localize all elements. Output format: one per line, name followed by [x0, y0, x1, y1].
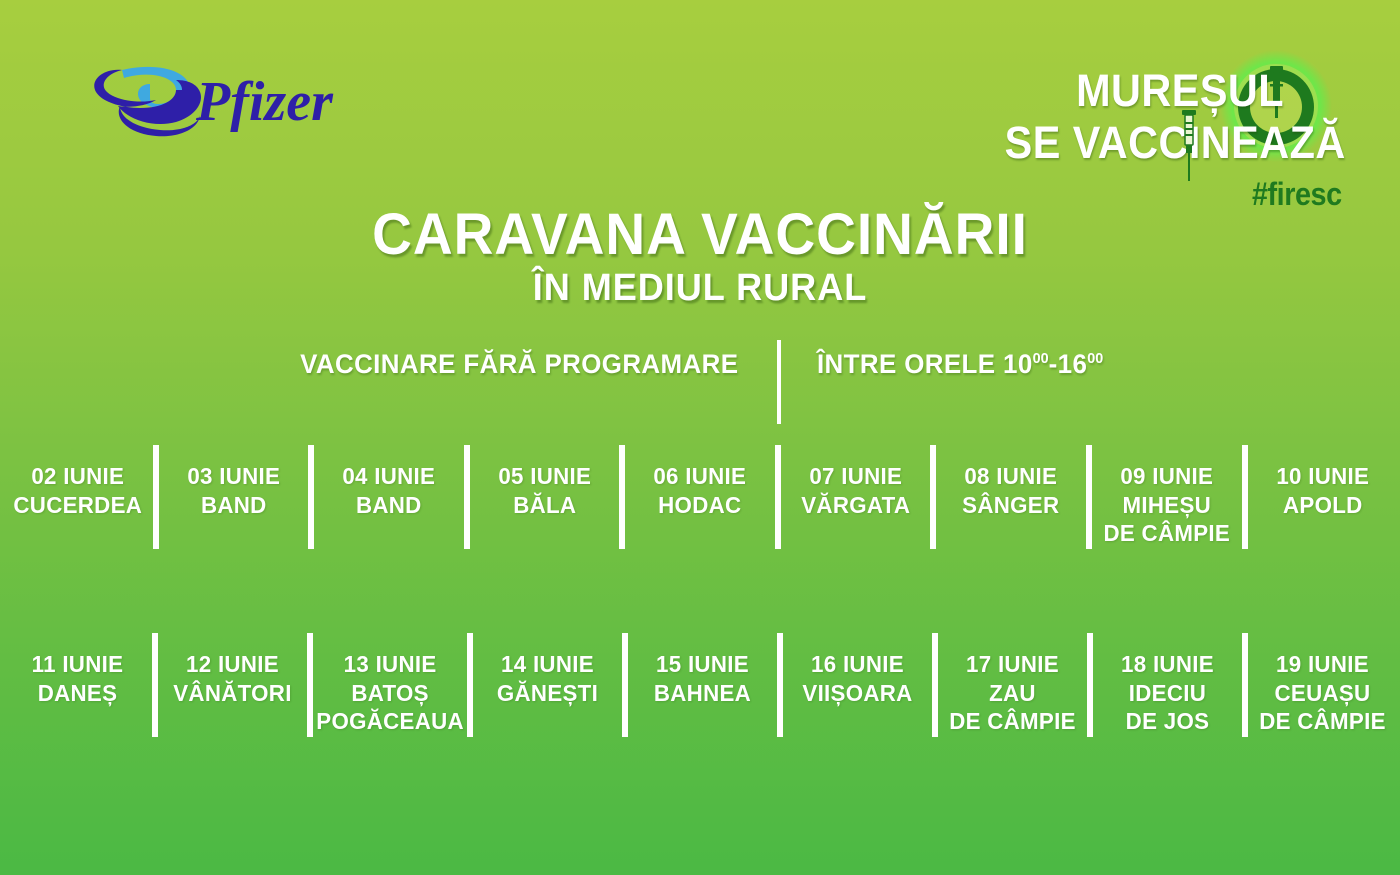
card-place: DANEȘ [6, 679, 149, 708]
page-subtitle: ÎN MEDIUL RURAL [35, 268, 1365, 310]
schedule-card: 07 IUNIEVĂRGATA [778, 440, 934, 555]
card-date: 03 IUNIE [162, 462, 305, 491]
card-separator [1242, 633, 1248, 737]
schedule-card: 08 IUNIESÂNGER [933, 440, 1089, 555]
schedule-card: 11 IUNIEDANEȘ [0, 628, 155, 743]
card-separator [464, 445, 470, 549]
info-row: VACCINARE FĂRĂ PROGRAMARE ÎNTRE ORELE 10… [0, 322, 1400, 406]
schedule-card: 02 IUNIECUCERDEA [0, 440, 156, 555]
card-date: 14 IUNIE [476, 650, 619, 679]
card-place: VĂRGATA [784, 491, 927, 520]
card-date: 12 IUNIE [161, 650, 304, 679]
card-place: CUCERDEA [6, 491, 149, 520]
card-date: 02 IUNIE [6, 462, 149, 491]
title-block: CARAVANA VACCINĂRII ÎN MEDIUL RURAL [0, 205, 1400, 310]
card-place-line: ZAU [941, 679, 1084, 708]
schedule-card: 19 IUNIECEUAȘUDE CÂMPIE [1245, 628, 1400, 743]
card-place-line: CUCERDEA [6, 491, 149, 520]
page-title: CARAVANA VACCINĂRII [35, 205, 1365, 264]
pfizer-logo: Pfizer [84, 58, 354, 143]
info-no-appointment: VACCINARE FĂRĂ PROGRAMARE [300, 349, 738, 380]
schedule-card: 16 IUNIEVIIȘOARA [780, 628, 935, 743]
card-place-line: BATOȘ [316, 679, 464, 708]
schedule-row-2: 11 IUNIEDANEȘ12 IUNIEVÂNĂTORI13 IUNIEBAT… [0, 628, 1400, 743]
schedule-card: 14 IUNIEGĂNEȘTI [470, 628, 625, 743]
card-place-line: POGĂCEAUA [316, 707, 464, 736]
card-date: 08 IUNIE [940, 462, 1083, 491]
campaign-line-2: SE VACCINEAZĂ [1005, 120, 1346, 165]
card-place: CEUAȘUDE CÂMPIE [1251, 679, 1394, 736]
schedule-card: 18 IUNIEIDECIUDE JOS [1090, 628, 1245, 743]
schedule-card: 06 IUNIEHODAC [622, 440, 778, 555]
schedule-card: 05 IUNIEBĂLA [467, 440, 623, 555]
card-place-line: BAND [317, 491, 460, 520]
card-place: ZAUDE CÂMPIE [941, 679, 1084, 736]
campaign-logo: MUREȘUL SE VACCINEAZĂ #firesc [962, 24, 1352, 204]
schedule-card: 17 IUNIEZAUDE CÂMPIE [935, 628, 1090, 743]
card-place-line: SÂNGER [940, 491, 1083, 520]
schedule-card: 12 IUNIEVÂNĂTORI [155, 628, 310, 743]
card-separator [1242, 445, 1248, 549]
pfizer-logo-icon: Pfizer [84, 58, 354, 143]
campaign-line-1: MUREȘUL [1076, 68, 1284, 113]
card-date: 07 IUNIE [784, 462, 927, 491]
card-date: 19 IUNIE [1251, 650, 1394, 679]
info-hours-sup-1: 00 [1033, 350, 1049, 367]
card-separator [153, 445, 159, 549]
card-place: HODAC [628, 491, 771, 520]
card-place-line: VĂRGATA [784, 491, 927, 520]
svg-text:Pfizer: Pfizer [195, 71, 334, 133]
card-separator [308, 445, 314, 549]
card-place-line: HODAC [628, 491, 771, 520]
schedule-card: 09 IUNIEMIHEȘUDE CÂMPIE [1089, 440, 1245, 555]
card-date: 06 IUNIE [628, 462, 771, 491]
card-place-line: BAND [162, 491, 305, 520]
card-separator [775, 445, 781, 549]
card-place-line: IDECIU [1096, 679, 1239, 708]
card-place-line: GĂNEȘTI [476, 679, 619, 708]
card-date: 10 IUNIE [1251, 462, 1394, 491]
schedule-card: 03 IUNIEBAND [156, 440, 312, 555]
card-date: 09 IUNIE [1095, 462, 1238, 491]
card-place: VÂNĂTORI [161, 679, 304, 708]
info-hours: ÎNTRE ORELE 1000-1600 [817, 349, 1103, 380]
vertical-divider [777, 340, 781, 424]
card-date: 15 IUNIE [631, 650, 774, 679]
card-separator [1087, 633, 1093, 737]
card-date: 13 IUNIE [316, 650, 464, 679]
card-separator [1086, 445, 1092, 549]
card-separator [619, 445, 625, 549]
card-place: BAND [162, 491, 305, 520]
card-separator [307, 633, 313, 737]
card-date: 05 IUNIE [473, 462, 616, 491]
card-place: BAND [317, 491, 460, 520]
schedule-row-1: 02 IUNIECUCERDEA03 IUNIEBAND04 IUNIEBAND… [0, 440, 1400, 555]
card-date: 11 IUNIE [6, 650, 149, 679]
card-date: 04 IUNIE [317, 462, 460, 491]
card-date: 17 IUNIE [941, 650, 1084, 679]
card-place-line: CEUAȘU [1251, 679, 1394, 708]
card-separator [152, 633, 158, 737]
card-separator [622, 633, 628, 737]
card-place-line: MIHEȘU [1095, 491, 1238, 520]
card-place-line: BĂLA [473, 491, 616, 520]
info-hours-sup-2: 00 [1087, 350, 1103, 367]
card-separator [930, 445, 936, 549]
schedule-card: 13 IUNIEBATOȘPOGĂCEAUA [310, 628, 470, 743]
info-hours-prefix: ÎNTRE ORELE 10 [817, 349, 1033, 379]
card-place-line: VÂNĂTORI [161, 679, 304, 708]
card-separator [777, 633, 783, 737]
card-separator [932, 633, 938, 737]
card-place: APOLD [1251, 491, 1394, 520]
card-place-line: DANEȘ [6, 679, 149, 708]
card-place: MIHEȘUDE CÂMPIE [1095, 491, 1238, 548]
card-place-line: DE CÂMPIE [1095, 519, 1238, 548]
card-place: IDECIUDE JOS [1096, 679, 1239, 736]
card-place-line: DE CÂMPIE [941, 707, 1084, 736]
card-place-line: VIIȘOARA [786, 679, 929, 708]
card-place: BAHNEA [631, 679, 774, 708]
card-separator [467, 633, 473, 737]
card-place-line: BAHNEA [631, 679, 774, 708]
card-place: VIIȘOARA [786, 679, 929, 708]
info-hours-middle: -16 [1049, 349, 1088, 379]
card-place: GĂNEȘTI [476, 679, 619, 708]
schedule-card: 04 IUNIEBAND [311, 440, 467, 555]
schedule-card: 10 IUNIEAPOLD [1245, 440, 1400, 555]
schedule-card: 15 IUNIEBAHNEA [625, 628, 780, 743]
card-date: 16 IUNIE [786, 650, 929, 679]
card-place-line: APOLD [1251, 491, 1394, 520]
card-place: BATOȘPOGĂCEAUA [316, 679, 464, 736]
card-place: BĂLA [473, 491, 616, 520]
card-place: SÂNGER [940, 491, 1083, 520]
card-place-line: DE JOS [1096, 707, 1239, 736]
card-date: 18 IUNIE [1096, 650, 1239, 679]
card-place-line: DE CÂMPIE [1251, 707, 1394, 736]
